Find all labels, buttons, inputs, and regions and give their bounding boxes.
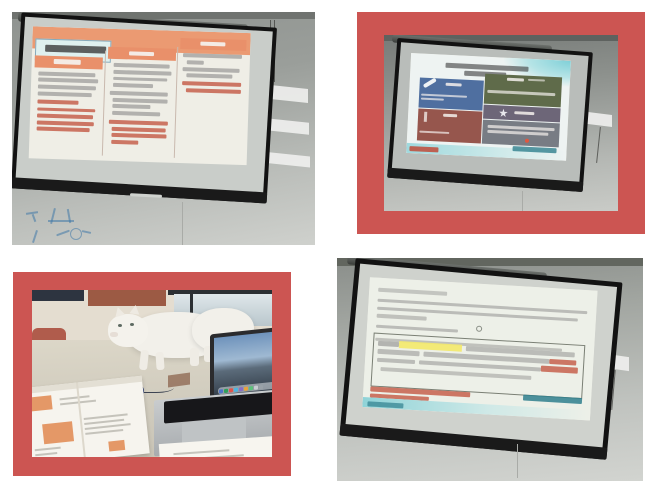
projector-screen xyxy=(339,258,622,460)
panel-colour xyxy=(416,108,481,143)
projector-screen xyxy=(12,13,277,204)
slide-exterior-vocabulary xyxy=(406,53,571,161)
slide-band-descriptors xyxy=(29,26,251,165)
panel-materials xyxy=(484,74,562,108)
projector-screen xyxy=(387,38,593,192)
cat-on-desk-photo xyxy=(32,290,272,457)
photo-frame-red xyxy=(357,12,645,234)
star-icon xyxy=(499,108,508,117)
photo-collage xyxy=(0,0,656,500)
slide-writing-task xyxy=(362,277,597,420)
panel-style xyxy=(418,77,483,110)
photo-frame-red xyxy=(13,272,291,476)
whiteboard xyxy=(32,290,84,301)
panel-descriptors xyxy=(482,120,560,148)
open-textbook xyxy=(32,376,150,457)
pencil-icon xyxy=(423,78,437,88)
paint-icon xyxy=(424,111,428,122)
photo-bottom-right-classroom-writing-task xyxy=(337,258,643,481)
photo-bottom-left-framed xyxy=(13,272,291,476)
band5-header xyxy=(54,59,81,64)
laser-pointer-dot xyxy=(525,139,529,143)
photo-top-left-classroom-band-descriptors xyxy=(12,12,315,245)
photo-top-right-framed xyxy=(357,12,645,234)
